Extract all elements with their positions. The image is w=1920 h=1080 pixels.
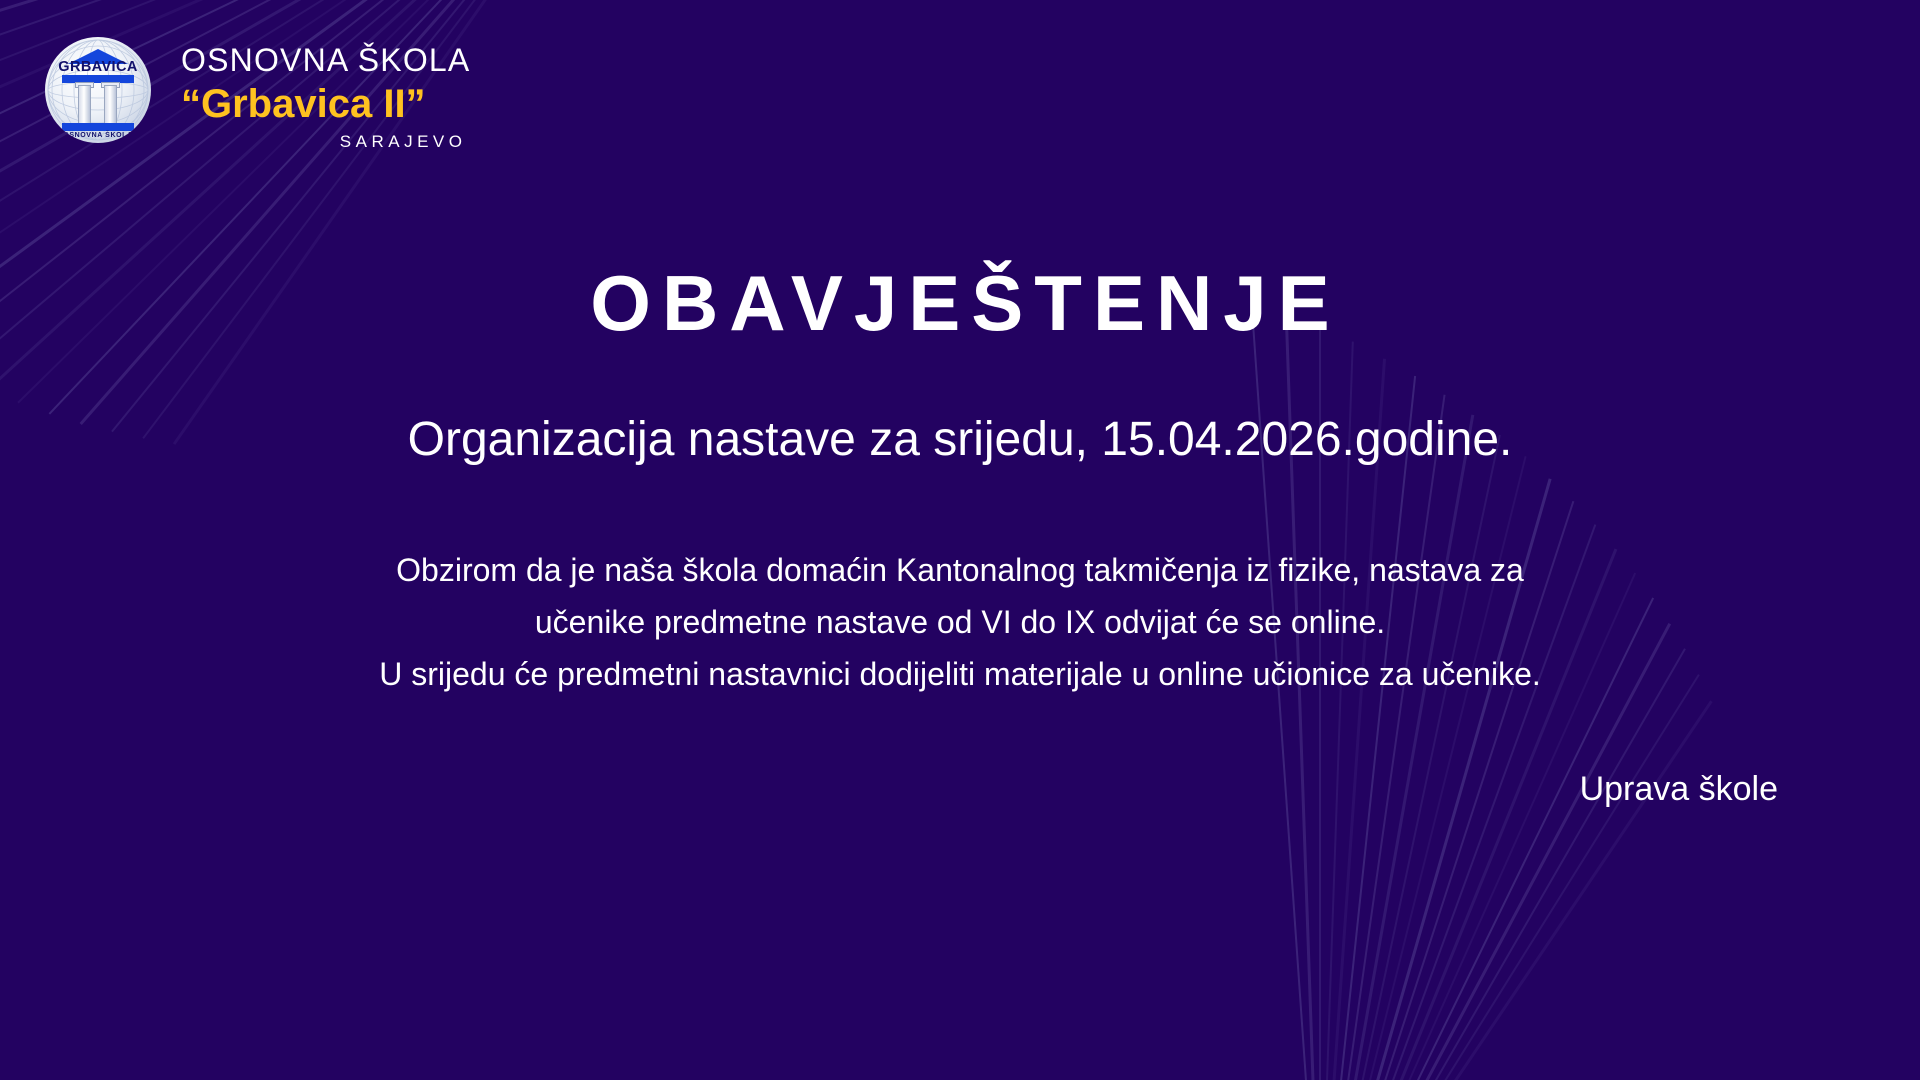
logo-stylobate-icon [62,123,134,131]
logo-word-mark: GRBAVICA [45,59,151,75]
logo-entablature-icon [62,75,134,83]
notice-heading: OBAVJEŠTENJE [0,258,1920,349]
logo-column-right-icon [104,85,117,125]
notice-slide: GRBAVICA OSNOVNA ŠKOLA OSNOVNA ŠKOLA “Gr… [0,0,1920,1080]
decorative-fan-lines-bottom-right [1260,640,1920,1080]
notice-signature: Uprava škole [1580,770,1778,809]
notice-body: Obzirom da je naša škola domaćin Kantona… [60,545,1860,700]
notice-body-line: učenike predmetne nastave od VI do IX od… [60,597,1860,649]
school-header: GRBAVICA OSNOVNA ŠKOLA OSNOVNA ŠKOLA “Gr… [45,32,470,152]
notice-body-line: U srijedu će predmetni nastavnici dodije… [60,649,1860,701]
school-title-block: OSNOVNA ŠKOLA “Grbavica II” SARAJEVO [181,32,470,152]
logo-sub-mark: OSNOVNA ŠKOLA [45,132,151,139]
school-name-label: “Grbavica II” [181,82,470,126]
notice-subheading: Organizacija nastave za srijedu, 15.04.2… [0,412,1920,467]
school-logo-icon: GRBAVICA OSNOVNA ŠKOLA [45,37,151,143]
school-type-label: OSNOVNA ŠKOLA [181,44,470,78]
notice-body-line: Obzirom da je naša škola domaćin Kantona… [60,545,1860,597]
school-city-label: SARAJEVO [181,132,470,152]
logo-column-left-icon [78,85,91,125]
